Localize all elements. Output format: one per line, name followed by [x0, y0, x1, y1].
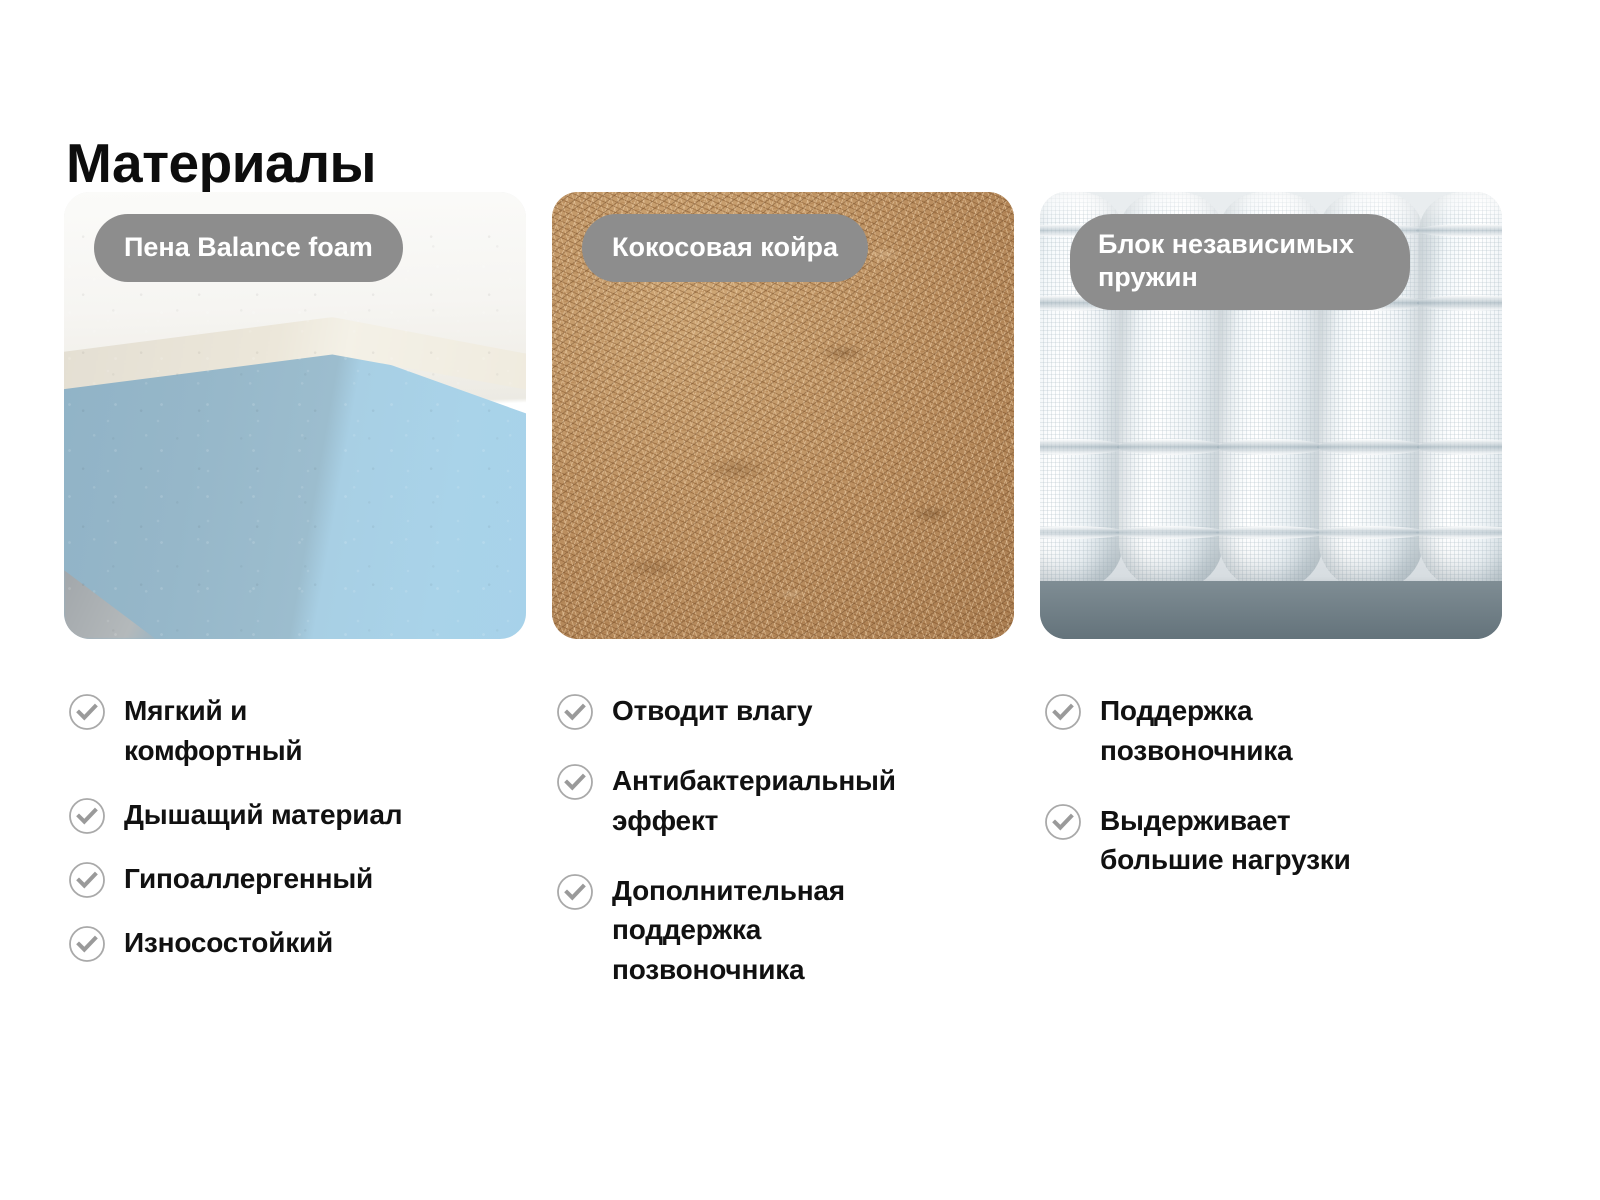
- feature-list-springs: Поддержка позвоночника Выдерживает больш…: [1040, 691, 1502, 880]
- material-badge-foam: Пена Balance foam: [94, 214, 403, 282]
- feature-item: Антибактериальный эффект: [556, 761, 1014, 841]
- spring-coil: [1419, 192, 1502, 590]
- material-badge-coir: Кокосовая койра: [582, 214, 868, 282]
- feature-list-coir: Отводит влагу Антибактериальный эффект: [552, 691, 1014, 990]
- materials-columns: Пена Balance foam Мягкий и комфортный: [64, 192, 1514, 1020]
- feature-label: Гипоаллергенный: [124, 859, 373, 899]
- material-card-coir[interactable]: Кокосовая койра: [552, 192, 1014, 639]
- check-circle-icon: [556, 693, 594, 731]
- feature-item: Гипоаллергенный: [68, 859, 526, 899]
- feature-label: Мягкий и комфортный: [124, 691, 302, 771]
- feature-label: Поддержка позвоночника: [1100, 691, 1292, 771]
- material-column-foam: Пена Balance foam Мягкий и комфортный: [64, 192, 526, 1020]
- check-circle-icon: [1044, 803, 1082, 841]
- check-circle-icon: [556, 873, 594, 911]
- material-card-springs[interactable]: Блок независимых пружин: [1040, 192, 1502, 639]
- feature-label: Износостойкий: [124, 923, 333, 963]
- materials-page: Материалы Пена Balance foam: [0, 0, 1600, 1200]
- check-circle-icon: [68, 693, 106, 731]
- material-card-foam[interactable]: Пена Balance foam: [64, 192, 526, 639]
- check-circle-icon: [68, 925, 106, 963]
- check-circle-icon: [1044, 693, 1082, 731]
- feature-item: Износостойкий: [68, 923, 526, 963]
- feature-item: Дополнительная поддержка позвоночника: [556, 871, 1014, 990]
- material-badge-springs: Блок независимых пружин: [1070, 214, 1410, 310]
- check-circle-icon: [68, 861, 106, 899]
- material-column-springs: Блок независимых пружин Поддержка позвон…: [1040, 192, 1502, 1020]
- feature-label: Дышащий материал: [124, 795, 402, 835]
- check-circle-icon: [556, 763, 594, 801]
- check-circle-icon: [68, 797, 106, 835]
- feature-item: Выдерживает большие нагрузки: [1044, 801, 1502, 881]
- feature-label: Отводит влагу: [612, 691, 812, 731]
- feature-label: Выдерживает большие нагрузки: [1100, 801, 1351, 881]
- feature-item: Дышащий материал: [68, 795, 526, 835]
- springs-floor: [1040, 581, 1502, 639]
- feature-label: Антибактериальный эффект: [612, 761, 896, 841]
- feature-item: Отводит влагу: [556, 691, 1014, 731]
- feature-label: Дополнительная поддержка позвоночника: [612, 871, 845, 990]
- feature-item: Поддержка позвоночника: [1044, 691, 1502, 771]
- feature-list-foam: Мягкий и комфортный Дышащий материал: [64, 691, 526, 963]
- feature-item: Мягкий и комфортный: [68, 691, 526, 771]
- page-title: Материалы: [66, 135, 376, 193]
- material-column-coir: Кокосовая койра Отводит влагу: [552, 192, 1014, 1020]
